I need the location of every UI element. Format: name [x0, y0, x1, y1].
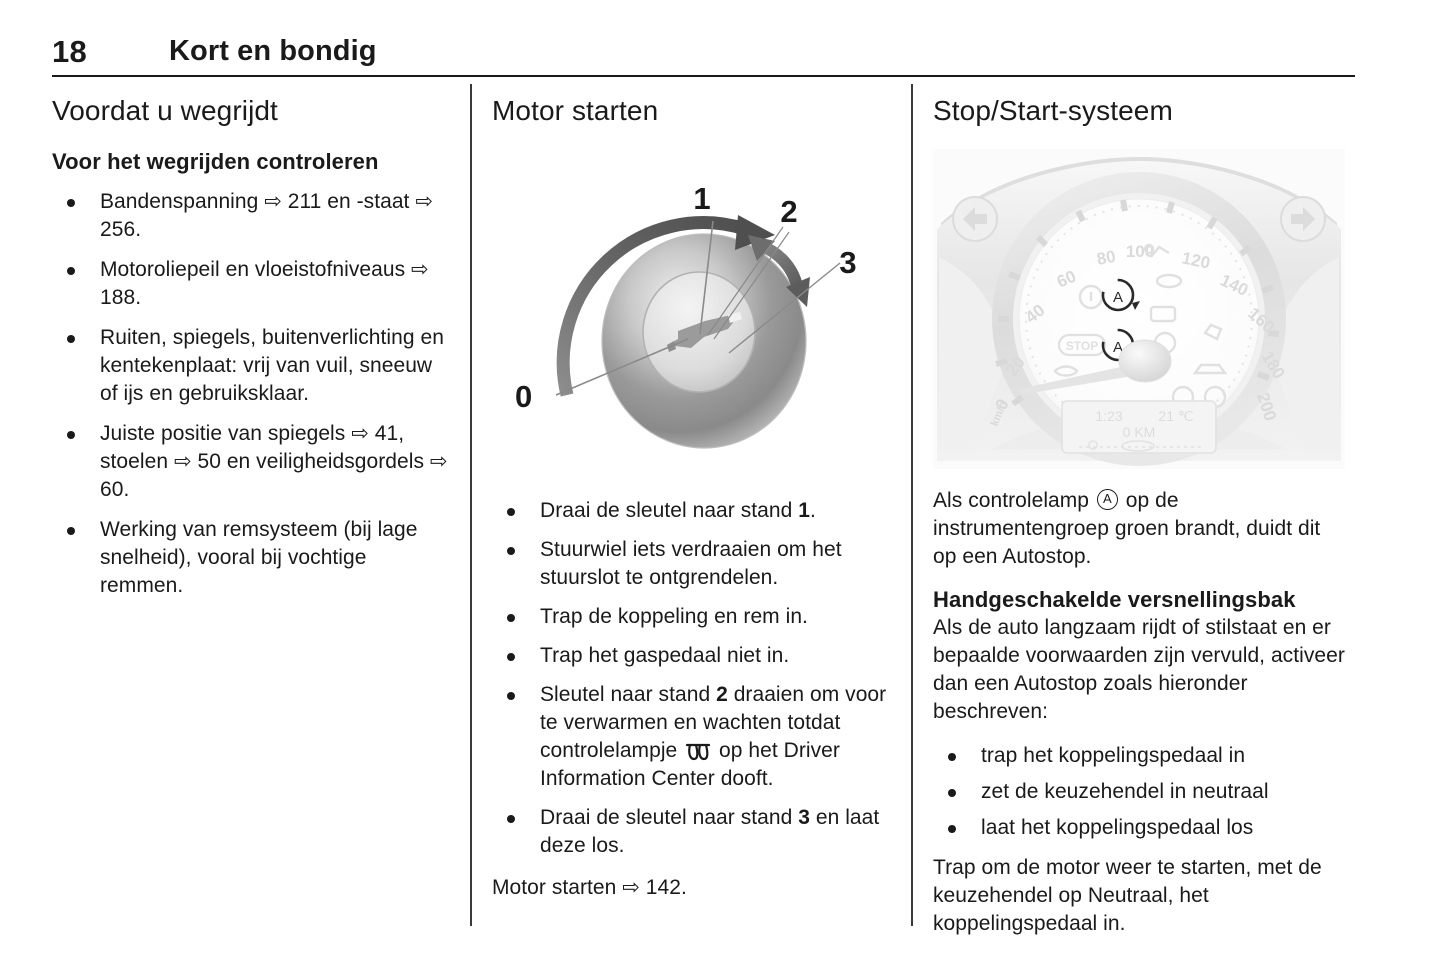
- bullet-dot: [948, 753, 956, 761]
- list-item-text: zet de keuzehendel in neutraal: [981, 780, 1269, 803]
- list-item: Motoroliepeil en vloeistofniveaus ⇨ 188.: [52, 256, 452, 312]
- bullet-dot: [948, 789, 956, 797]
- list-item-text: trap het koppelingspedaal in: [981, 744, 1245, 767]
- display-temperature: 21 ℃: [1158, 408, 1193, 424]
- display-odometer: 0 KM: [1123, 424, 1156, 440]
- restart-paragraph: Trap om de motor weer te starten, met de…: [933, 854, 1345, 938]
- list-item: Werking van remsysteem (bij lage snelhei…: [52, 516, 452, 600]
- list-item-text: Juiste positie van spiegels ⇨ 41, stoele…: [100, 422, 448, 501]
- list-item-text: Draai de sleutel naar stand 1.: [540, 499, 816, 522]
- driver-information-display: 1:23 21 ℃ 0 KM: [1062, 401, 1216, 453]
- list-item: Stuurwiel iets verdraaien om het stuursl…: [492, 536, 892, 592]
- list-item-text: Bandenspanning ⇨ 211 en -staat ⇨ 256.: [100, 190, 433, 241]
- bullet-dot: [507, 653, 515, 661]
- autostop-conditions-list: trap het koppelingspedaal in zet de keuz…: [933, 742, 1345, 842]
- manual-transmission-sub-title: Handgeschakelde versnellingsbak: [933, 587, 1345, 612]
- instrument-cluster-figure: 0 20 40 60 80 100 120 140 160 180 200 km…: [933, 149, 1345, 469]
- left-section-title: Voordat u wegrijdt: [52, 96, 452, 127]
- ignition-position-1: 1: [693, 181, 710, 216]
- page-header: 18 Kort en bondig: [52, 34, 1355, 76]
- list-item-text: Stuurwiel iets verdraaien om het stuursl…: [540, 538, 842, 589]
- engine-start-steps: Draai de sleutel naar stand 1. Stuurwiel…: [492, 497, 892, 860]
- list-item: Sleutel naar stand 2 draaien om voor te …: [492, 681, 892, 793]
- bullet-dot: [507, 508, 515, 516]
- ignition-position-0: 0: [515, 379, 532, 414]
- column-divider-right: [911, 84, 913, 926]
- column-divider-left: [470, 84, 472, 926]
- list-item-text: Draai de sleutel naar stand 3 en laat de…: [540, 806, 879, 857]
- middle-column: Motor starten: [492, 96, 892, 902]
- right-section-title: Stop/Start-systeem: [933, 96, 1345, 127]
- list-item: Bandenspanning ⇨ 211 en -staat ⇨ 256.: [52, 188, 452, 244]
- glow-plug-preheat-icon: [685, 741, 711, 761]
- middle-section-title: Motor starten: [492, 96, 892, 127]
- list-item-text: laat het koppelingspedaal los: [981, 816, 1253, 839]
- list-item: Draai de sleutel naar stand 3 en laat de…: [492, 804, 892, 860]
- svg-text:A: A: [1113, 289, 1123, 306]
- bullet-dot: [67, 199, 75, 207]
- bullet-dot: [507, 815, 515, 823]
- bullet-dot: [67, 335, 75, 343]
- list-item: zet de keuzehendel in neutraal: [933, 778, 1345, 806]
- list-item: trap het koppelingspedaal in: [933, 742, 1345, 770]
- header-rule: [52, 75, 1355, 77]
- left-column: Voordat u wegrijdt Voor het wegrijden co…: [52, 96, 452, 600]
- list-item: Trap het gaspedaal niet in.: [492, 642, 892, 670]
- page-number: 18: [52, 34, 87, 70]
- chapter-title: Kort en bondig: [169, 35, 377, 68]
- right-column: Stop/Start-systeem: [933, 96, 1345, 938]
- autostop-intro-paragraph: Als controlelamp op de instrumentengroep…: [933, 487, 1345, 571]
- turn-signal-left-icon: [953, 197, 997, 241]
- list-item-text: Werking van remsysteem (bij lage snelhei…: [100, 518, 418, 597]
- list-item: Draai de sleutel naar stand 1.: [492, 497, 892, 525]
- list-item-text: Motoroliepeil en vloeistofniveaus ⇨ 188.: [100, 258, 429, 309]
- list-item-text: Ruiten, spiegels, buitenverlichting en k…: [100, 326, 444, 405]
- bullet-dot: [507, 547, 515, 555]
- turn-signal-right-icon: [1281, 197, 1325, 241]
- svg-text:STOP: STOP: [1066, 339, 1098, 353]
- bullet-dot: [507, 692, 515, 700]
- bullet-dot: [948, 825, 956, 833]
- left-checklist: Bandenspanning ⇨ 211 en -staat ⇨ 256. Mo…: [52, 188, 452, 600]
- bullet-dot: [67, 527, 75, 535]
- list-item: Juiste positie van spiegels ⇨ 41, stoele…: [52, 420, 452, 504]
- ignition-position-2: 2: [780, 194, 797, 229]
- ignition-position-3: 3: [839, 245, 856, 280]
- display-time: 1:23: [1095, 408, 1122, 424]
- bullet-dot: [507, 614, 515, 622]
- autostop-lamp-inline-icon: [1097, 489, 1118, 510]
- engine-start-cross-reference: Motor starten ⇨ 142.: [492, 874, 892, 902]
- list-item-text: Trap het gaspedaal niet in.: [540, 644, 789, 667]
- manual-transmission-paragraph: Als de auto langzaam rijdt of stilstaat …: [933, 614, 1345, 726]
- list-item-text: Sleutel naar stand 2 draaien om voor te …: [540, 683, 886, 790]
- bullet-dot: [67, 267, 75, 275]
- list-item: laat het koppelingspedaal los: [933, 814, 1345, 842]
- left-sub-title: Voor het wegrijden controleren: [52, 149, 452, 174]
- list-item: Ruiten, spiegels, buitenverlichting en k…: [52, 324, 452, 408]
- list-item-text: Trap de koppeling en rem in.: [540, 605, 808, 628]
- ignition-switch-figure: 0 1 2 3: [492, 149, 892, 479]
- bullet-dot: [67, 431, 75, 439]
- list-item: Trap de koppeling en rem in.: [492, 603, 892, 631]
- svg-text:80: 80: [1095, 246, 1117, 268]
